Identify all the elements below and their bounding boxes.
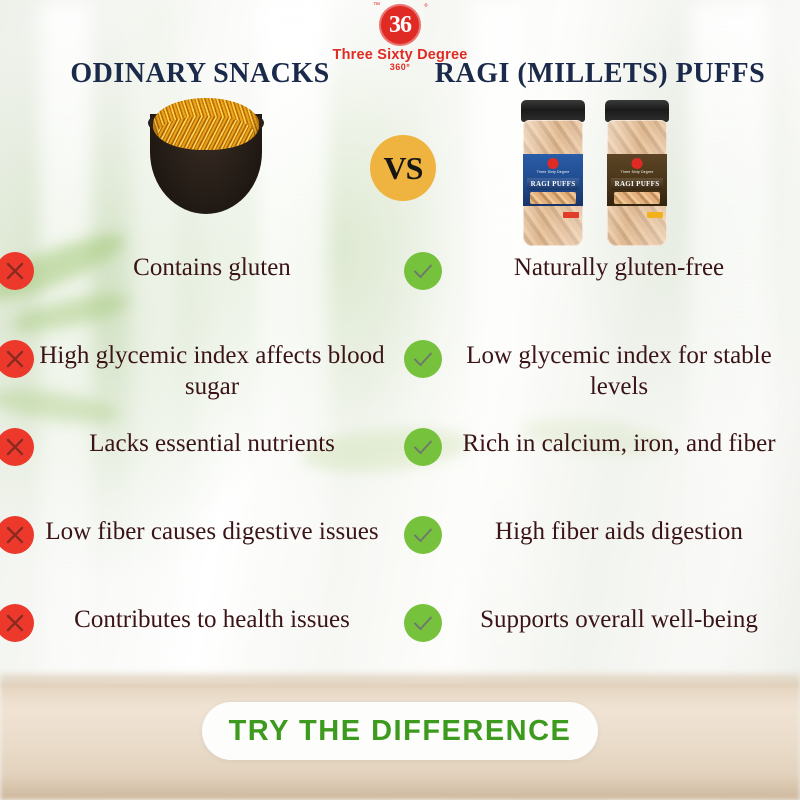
page-title-right: RAGI (MILLETS) PUFFS: [400, 58, 800, 90]
comparison-text-negative: Low fiber causes digestive issues: [34, 516, 400, 547]
comparison-text-negative: High glycemic index affects blood sugar: [34, 340, 400, 402]
cross-icon: [0, 516, 34, 554]
comparison-text-positive: Rich in calcium, iron, and fiber: [442, 428, 800, 459]
comparison-cell-positive: Rich in calcium, iron, and fiber: [404, 428, 800, 516]
jar-lid: [521, 100, 585, 122]
check-icon: [404, 516, 442, 554]
cross-icon: [0, 252, 34, 290]
jar-label-window: [614, 192, 660, 204]
jar-label-logo-icon: [548, 158, 559, 169]
jar-label-window: [530, 192, 576, 204]
logo-number: 36: [379, 4, 421, 46]
comparison-cell-negative: Low fiber causes digestive issues: [0, 516, 400, 604]
jar-label-brand: Three Sixty Degree: [607, 170, 667, 174]
page-title-left: ODINARY SNACKS: [0, 58, 400, 90]
cta-label: TRY THE DIFFERENCE: [229, 715, 572, 748]
cross-icon: [0, 428, 34, 466]
comparison-text-negative: Lacks essential nutrients: [34, 428, 400, 459]
comparison-cell-positive: High fiber aids digestion: [404, 516, 800, 604]
jar-body: Three Sixty Degree RAGI PUFFS: [523, 120, 583, 246]
comparison-text-negative: Contributes to health issues: [34, 604, 400, 635]
check-icon: [404, 252, 442, 290]
comparison-cell-positive: Naturally gluten-free: [404, 252, 800, 340]
comparison-text-negative: Contains gluten: [34, 252, 400, 283]
degree-symbol: °: [424, 3, 428, 14]
jar-label: Three Sixty Degree RAGI PUFFS: [523, 154, 583, 206]
comparison-text-positive: High fiber aids digestion: [442, 516, 800, 547]
jar-lid: [605, 100, 669, 122]
jar-label-brand: Three Sixty Degree: [523, 170, 583, 174]
comparison-row: Lacks essential nutrients Rich in calciu…: [0, 428, 800, 516]
product-jar: Three Sixty Degree RAGI PUFFS: [604, 100, 670, 246]
comparison-text-positive: Supports overall well-being: [442, 604, 800, 635]
comparison-cell-negative: Contributes to health issues: [0, 604, 400, 692]
jar-label-product: RAGI PUFFS: [611, 178, 663, 190]
jar-label-badge: [647, 212, 663, 218]
cross-icon: [0, 604, 34, 642]
comparison-row: Low fiber causes digestive issues High f…: [0, 516, 800, 604]
jar-body: Three Sixty Degree RAGI PUFFS: [607, 120, 667, 246]
comparison-text-positive: Low glycemic index for stable levels: [442, 340, 800, 402]
comparison-row: High glycemic index affects blood sugar …: [0, 340, 800, 428]
jar-label-logo-icon: [632, 158, 643, 169]
ragi-puffs-image: Three Sixty Degree RAGI PUFFS Three Sixt…: [520, 100, 676, 248]
comparison-cell-negative: Lacks essential nutrients: [0, 428, 400, 516]
check-icon: [404, 428, 442, 466]
check-icon: [404, 604, 442, 642]
comparison-list: Contains gluten Naturally gluten-free Hi…: [0, 252, 800, 692]
comparison-row: Contributes to health issues Supports ov…: [0, 604, 800, 692]
versus-badge: VS: [370, 135, 436, 201]
logo-badge-icon: ™ ° 36: [379, 4, 421, 46]
comparison-row: Contains gluten Naturally gluten-free: [0, 252, 800, 340]
comparison-cell-positive: Supports overall well-being: [404, 604, 800, 692]
cross-icon: [0, 340, 34, 378]
comparison-cell-negative: Contains gluten: [0, 252, 400, 340]
comparison-text-positive: Naturally gluten-free: [442, 252, 800, 283]
jar-label-product: RAGI PUFFS: [527, 178, 579, 190]
try-the-difference-button[interactable]: TRY THE DIFFERENCE: [202, 702, 598, 760]
sev-snack-top: [158, 116, 254, 150]
product-jar: Three Sixty Degree RAGI PUFFS: [520, 100, 586, 246]
comparison-cell-positive: Low glycemic index for stable levels: [404, 340, 800, 428]
jar-label: Three Sixty Degree RAGI PUFFS: [607, 154, 667, 206]
check-icon: [404, 340, 442, 378]
ordinary-snack-image: [146, 100, 266, 218]
comparison-cell-negative: High glycemic index affects blood sugar: [0, 340, 400, 428]
jar-label-badge: [563, 212, 579, 218]
comparison-infographic: ™ ° 36 Three Sixty Degree 360° ODINARY S…: [0, 0, 800, 800]
